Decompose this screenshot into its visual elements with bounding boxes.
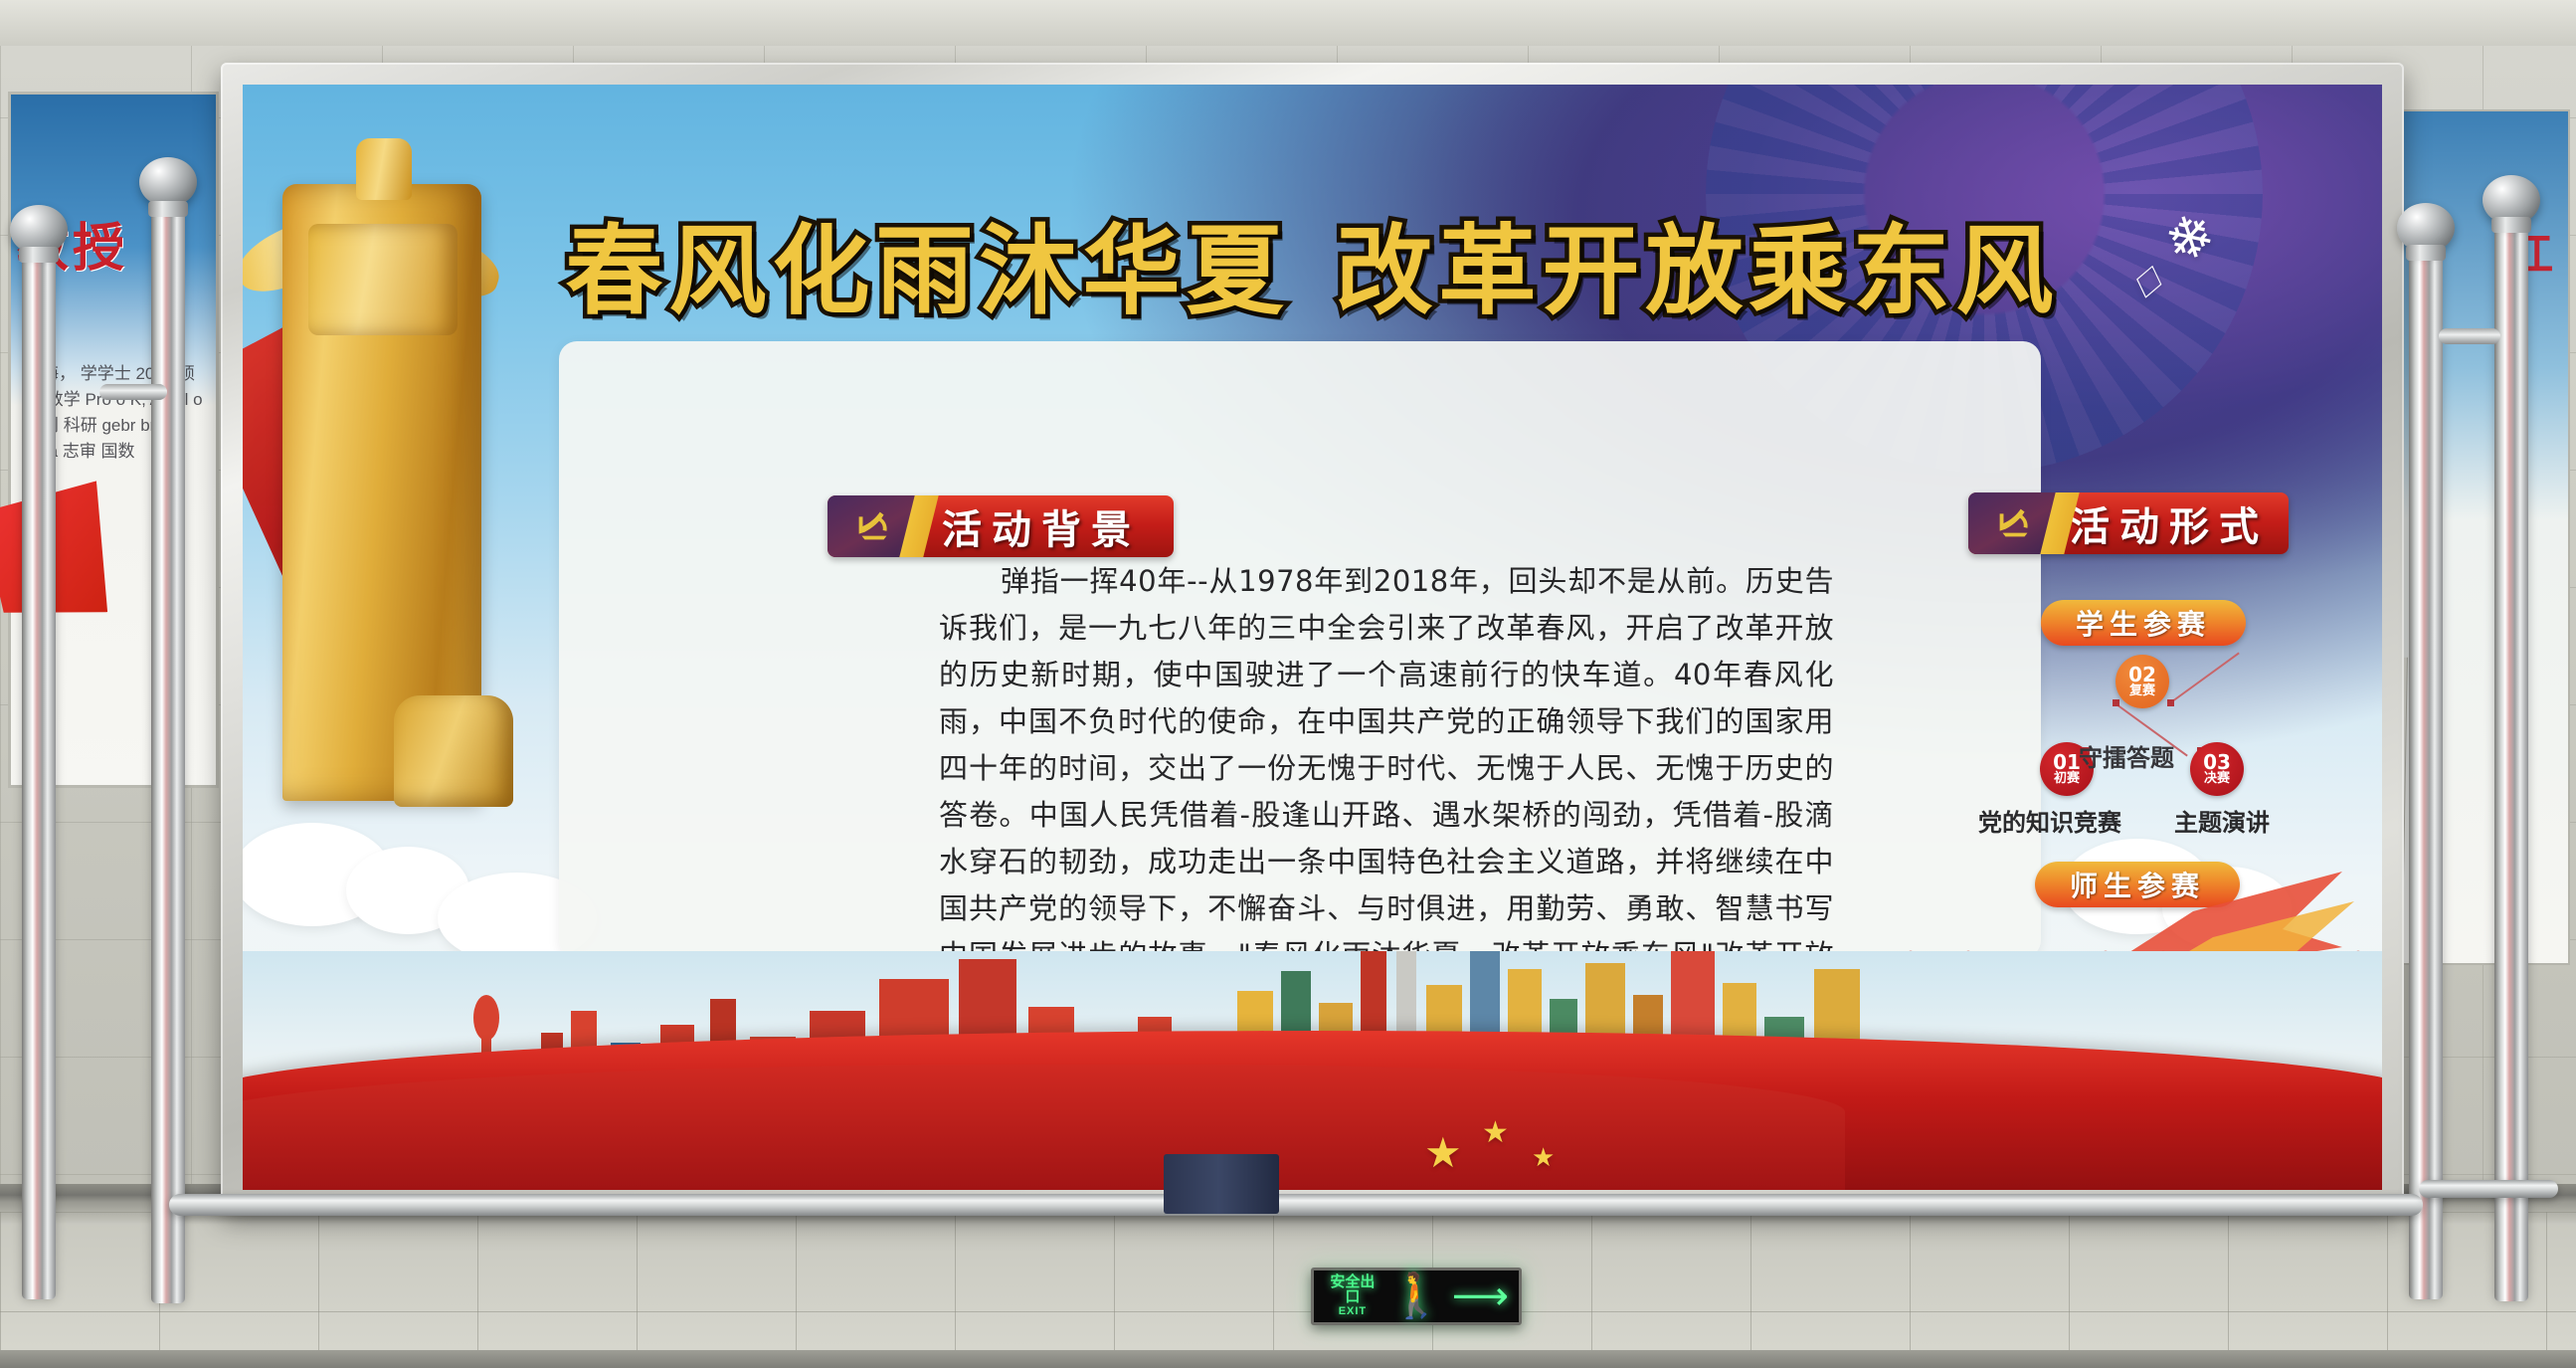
- student-node-02: 02 复赛: [2116, 655, 2169, 708]
- railing-post-neck: [19, 247, 59, 263]
- poster-artwork: ❄ ♢ 春风化雨沐华夏改革开放乘东风: [243, 85, 2382, 1190]
- student-node-03-number: 03: [2203, 753, 2231, 772]
- building: [473, 995, 499, 1041]
- poster-title-part1: 春风化雨沐华夏: [565, 214, 1289, 328]
- railing-post-neck: [2491, 217, 2531, 233]
- railing-horizontal-bar-upper: [2419, 1180, 2558, 1198]
- railing-post-neck: [2406, 245, 2446, 261]
- star-icon: ★: [1482, 1118, 1509, 1148]
- railing-cross-stub: [2439, 328, 2500, 344]
- floor-edge: [0, 1350, 2576, 1368]
- student-node-03-stage: 决赛: [2204, 772, 2230, 786]
- pillar-capital: [308, 224, 458, 335]
- railing-post-neck: [148, 201, 188, 217]
- exit-sign: 安全出口 EXIT 🚶 ⟶: [1311, 1268, 1522, 1325]
- ceiling-edge: [0, 0, 2576, 46]
- city-skyline-illustration: ★ ★ ★: [243, 951, 2382, 1190]
- party-emblem-icon: [1968, 492, 2060, 554]
- railing-post: [22, 245, 56, 1299]
- student-node-03: 03 决赛: [2190, 742, 2244, 796]
- railing-horizontal-bar: [169, 1194, 2423, 1216]
- star-icon: ★: [1424, 1132, 1462, 1174]
- star-icon: ★: [1532, 1144, 1555, 1170]
- student-node-02-caption: 守擂答题: [2079, 738, 2174, 773]
- stone-lion-statue: [394, 695, 513, 807]
- poster-title-part2: 改革开放乘东风: [1336, 214, 2060, 328]
- person-legs-behind-railing: [1164, 1154, 1279, 1214]
- pillar-lion-icon: [356, 138, 412, 200]
- student-node-02-stage: 复赛: [2129, 684, 2155, 698]
- exit-sign-en-label: EXIT: [1324, 1304, 1381, 1319]
- display-board-frame: ❄ ♢ 春风化雨沐华夏改革开放乘东风: [221, 63, 2404, 1212]
- room-scene: 教授 上海， 学学士 2001 硕士 数学 Pro o K, Ap al o 个…: [0, 0, 2576, 1368]
- running-person-icon: 🚶: [1389, 1274, 1444, 1318]
- section-header-background-label: 活动背景: [919, 497, 1174, 555]
- red-silk-wave-secondary: [243, 1065, 1845, 1190]
- student-node-01-number: 01: [2053, 753, 2081, 772]
- student-node-01-caption: 党的知识竞赛: [1978, 803, 2121, 838]
- exit-sign-text: 安全出口 EXIT: [1324, 1274, 1381, 1319]
- connector-dot: [2113, 699, 2119, 706]
- party-emblem-icon: [828, 495, 919, 557]
- student-node-01-stage: 初赛: [2054, 772, 2080, 786]
- student-node-02-number: 02: [2128, 666, 2156, 684]
- railing-post: [151, 199, 185, 1303]
- railing-post-cap: [139, 157, 197, 207]
- section-header-background: 活动背景: [828, 495, 1174, 557]
- section-header-form-label: 活动形式: [2060, 494, 2289, 552]
- exit-sign-cn-label: 安全出口: [1330, 1273, 1375, 1305]
- poster-title: 春风化雨沐华夏改革开放乘东风: [243, 192, 2382, 333]
- student-group-title: 学生参赛: [2041, 600, 2246, 646]
- connector-dot: [2167, 699, 2174, 706]
- display-board-inner: ❄ ♢ 春风化雨沐华夏改革开放乘东风: [243, 85, 2382, 1190]
- railing-cross-stub: [99, 384, 167, 400]
- diagram-connector: [2167, 652, 2239, 704]
- arrow-right-icon: ⟶: [1452, 1276, 1509, 1316]
- railing-post: [2494, 217, 2528, 1301]
- railing-post: [2409, 245, 2443, 1299]
- section-header-form: 活动形式: [1968, 492, 2289, 554]
- student-node-03-caption: 主题演讲: [2174, 803, 2270, 838]
